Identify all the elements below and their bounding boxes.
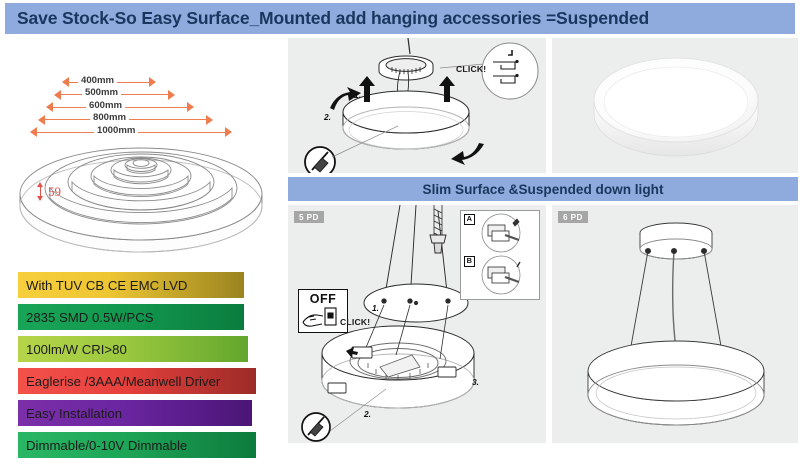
arrow-right-icon [149,77,156,87]
feature-bar: Easy Installation [18,400,252,426]
no-screwdriver-icon [302,413,330,441]
arrow-right-icon [187,102,194,112]
feature-bar-list: With TUV CB CE EMC LVD 2835 SMD 0.5W/PCS… [18,272,268,464]
no-screwdriver-icon [305,147,335,173]
arrow-left-icon [38,115,45,125]
arrow-down-icon [37,196,43,201]
feature-label: 100lm/W CRI>80 [26,342,127,357]
slide-canvas: Save Stock-So Easy Surface_Mounted add h… [0,0,800,445]
step-2-label: 2. [324,112,331,122]
dimension-label: 800mm [90,112,129,123]
arrow-left-icon [54,90,61,100]
click-callout-label: CLICK! [456,64,486,74]
step-2-label: 2. [364,409,371,419]
feature-label: With TUV CB CE EMC LVD [26,278,187,293]
pendant-drawing-panel: 6 PD [552,205,798,443]
panel-badge: 5 PD [294,211,324,223]
step-1-label: 1. [354,90,361,100]
feature-label: Dimmable/0-10V Dimmable [26,438,187,453]
dimension-row: 800mm [24,113,254,125]
arrow-left-icon [46,102,53,112]
slide-title-bar: Save Stock-So Easy Surface_Mounted add h… [5,3,795,34]
feature-bar: Dimmable/0-10V Dimmable [18,432,256,458]
suspended-assembly-panel: 5 PD [288,205,546,443]
off-label: OFF [299,292,347,306]
feature-label: Eaglerise /3AAA/Meanwell Driver [26,374,220,389]
arrow-right-icon [206,115,213,125]
feature-bar: 100lm/W CRI>80 [18,336,248,362]
dimension-label: 500mm [82,87,121,98]
product-photo-panel [552,38,798,173]
feature-bar: 2835 SMD 0.5W/PCS [18,304,244,330]
detail-b-label: B [464,256,475,267]
detail-callout-box: A B [460,210,540,300]
feature-label: 2835 SMD 0.5W/PCS [26,310,154,325]
step-1-label: 1. [372,303,379,313]
detail-a-label: A [464,214,475,225]
dimension-row: 600mm [24,101,254,113]
section-banner: Slim Surface &Suspended down light [288,177,798,201]
arrow-left-icon [62,77,69,87]
suspended-pendant-line-drawing [552,205,798,443]
arrow-right-icon [168,90,175,100]
dimension-label: 400mm [78,75,117,86]
page-title: Save Stock-So Easy Surface_Mounted add h… [5,8,649,29]
click-callout-label: CLICK! [340,317,370,327]
left-column: 400mm 500mm 600mm 800mm [0,36,282,445]
dimension-row: 400mm [24,76,254,88]
feature-bar: Eaglerise /3AAA/Meanwell Driver [18,368,256,394]
surface-mount-diagram-panel: CLICK! 1. 2. [288,38,546,173]
panel-badge: 6 PD [558,211,588,223]
feature-label: Easy Installation [26,406,122,421]
banner-label: Slim Surface &Suspended down light [423,182,664,197]
feature-bar: With TUV CB CE EMC LVD [18,272,244,298]
round-surface-ceiling-light-photo [552,38,798,173]
dimension-label: 600mm [86,100,125,111]
height-dimension: 59 [36,182,70,204]
dimension-row: 500mm [24,88,254,100]
dimension-arrows: 400mm 500mm 600mm 800mm [24,76,254,138]
height-label: 59 [48,184,61,200]
step-3-label: 3. [472,377,479,387]
